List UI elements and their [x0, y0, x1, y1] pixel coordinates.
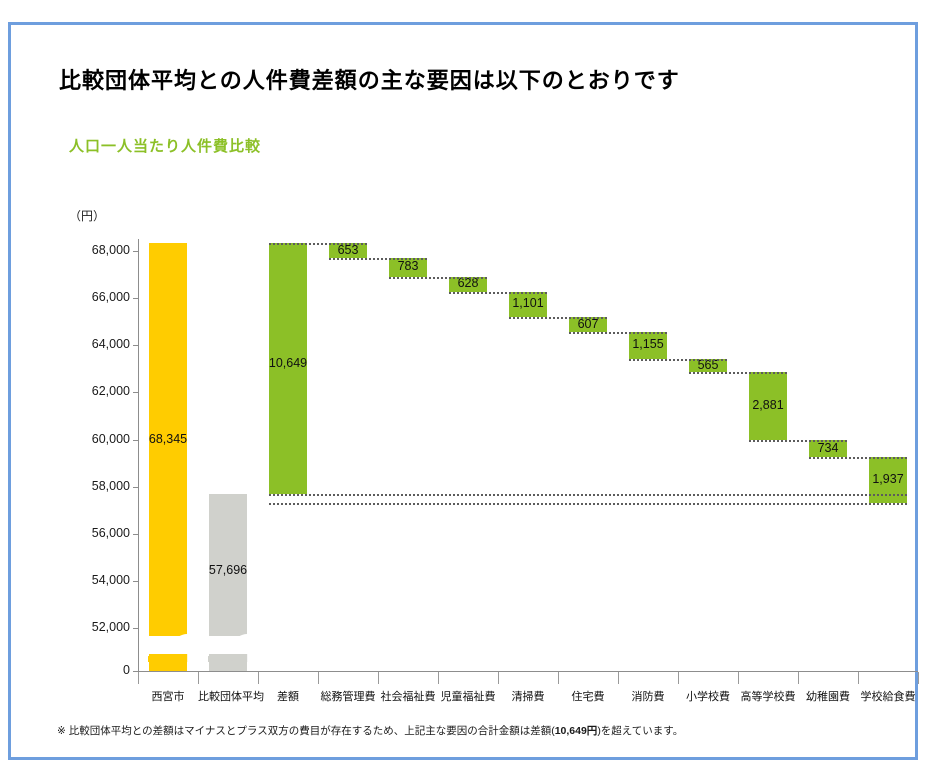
waterfall-connector — [509, 317, 606, 319]
y-axis-tick-label: 52,000 — [50, 620, 130, 634]
category-separator — [318, 672, 319, 684]
waterfall-connector-top — [269, 243, 366, 245]
y-axis-tick — [133, 628, 138, 629]
category-separator — [138, 672, 139, 684]
x-axis-category-label: 清掃費 — [498, 688, 558, 704]
slide-frame: 比較団体平均との人件費差額の主な要因は以下のとおりです 人口一人当たり人件費比較… — [8, 22, 918, 760]
axis-break-wave-lower — [208, 649, 247, 659]
x-axis-category-label: 社会福祉費 — [378, 688, 438, 704]
axis-break-wave-lower — [148, 649, 187, 659]
y-axis-tick-label: 58,000 — [50, 479, 130, 493]
category-separator — [618, 672, 619, 684]
waterfall-connector — [449, 292, 546, 294]
waterfall-connector-base-level — [269, 494, 906, 496]
bar-value-label: 1,101 — [483, 296, 573, 310]
y-axis-tick-label: 62,000 — [50, 384, 130, 398]
x-axis-category-label: 住宅費 — [558, 688, 618, 704]
y-axis-tick-label: 0 — [50, 663, 130, 677]
y-axis-tick — [133, 298, 138, 299]
waterfall-connector — [689, 372, 786, 374]
category-separator — [438, 672, 439, 684]
category-separator — [858, 672, 859, 684]
y-axis-tick — [133, 392, 138, 393]
x-axis-category-label: 小学校費 — [678, 688, 738, 704]
category-separator — [258, 672, 259, 684]
waterfall-chart: 052,00054,00056,00058,00060,00062,00064,… — [11, 25, 921, 763]
bar-value-label: 10,649 — [243, 356, 333, 370]
category-separator — [678, 672, 679, 684]
x-axis-category-label: 高等学校費 — [738, 688, 798, 704]
waterfall-connector — [749, 440, 846, 442]
bar-value-label: 734 — [783, 441, 873, 455]
bar-value-label: 57,696 — [183, 563, 273, 577]
footnote: ※ 比較団体平均との差額はマイナスとプラス双方の費目が存在するため、上記主な要因… — [57, 723, 683, 738]
waterfall-connector — [809, 457, 906, 459]
waterfall-connector — [389, 277, 486, 279]
axis-break-wave-upper — [148, 630, 187, 640]
y-axis-tick — [133, 581, 138, 582]
x-axis-category-label: 幼稚園費 — [798, 688, 858, 704]
y-axis-tick — [133, 534, 138, 535]
category-separator — [558, 672, 559, 684]
y-axis-tick-label: 56,000 — [50, 526, 130, 540]
waterfall-connector-final — [269, 503, 906, 505]
y-axis-tick-label: 68,000 — [50, 243, 130, 257]
x-axis-category-label: 総務管理費 — [318, 688, 378, 704]
x-axis-category-label: 消防費 — [618, 688, 678, 704]
y-axis-tick — [133, 345, 138, 346]
axis-break-wave-upper — [208, 630, 247, 640]
y-axis-tick-label: 64,000 — [50, 337, 130, 351]
y-axis-tick — [133, 487, 138, 488]
category-separator — [378, 672, 379, 684]
bar-value-label: 1,155 — [603, 337, 693, 351]
bar-value-label: 68,345 — [123, 432, 213, 446]
x-axis-line — [138, 671, 918, 672]
category-separator — [918, 672, 919, 684]
category-separator — [198, 672, 199, 684]
y-axis-tick — [133, 251, 138, 252]
y-axis-tick-label: 60,000 — [50, 432, 130, 446]
bar-value-label: 2,881 — [723, 398, 813, 412]
waterfall-connector — [569, 332, 666, 334]
waterfall-connector — [329, 258, 426, 260]
x-axis-category-label: 学校給食費 — [858, 688, 918, 704]
category-separator — [498, 672, 499, 684]
chart-bar[interactable] — [149, 243, 186, 669]
category-separator — [738, 672, 739, 684]
x-axis-category-label: 差額 — [258, 688, 318, 704]
y-axis-tick-label: 66,000 — [50, 290, 130, 304]
x-axis-category-label: 児童福祉費 — [438, 688, 498, 704]
bar-value-label: 783 — [363, 259, 453, 273]
x-axis-category-label: 西宮市 — [138, 688, 198, 704]
y-axis-tick-label: 54,000 — [50, 573, 130, 587]
y-axis-line — [138, 239, 139, 671]
bar-value-label: 1,937 — [843, 472, 933, 486]
x-axis-category-label: 比較団体平均 — [198, 688, 258, 704]
category-separator — [798, 672, 799, 684]
waterfall-connector — [629, 359, 726, 361]
